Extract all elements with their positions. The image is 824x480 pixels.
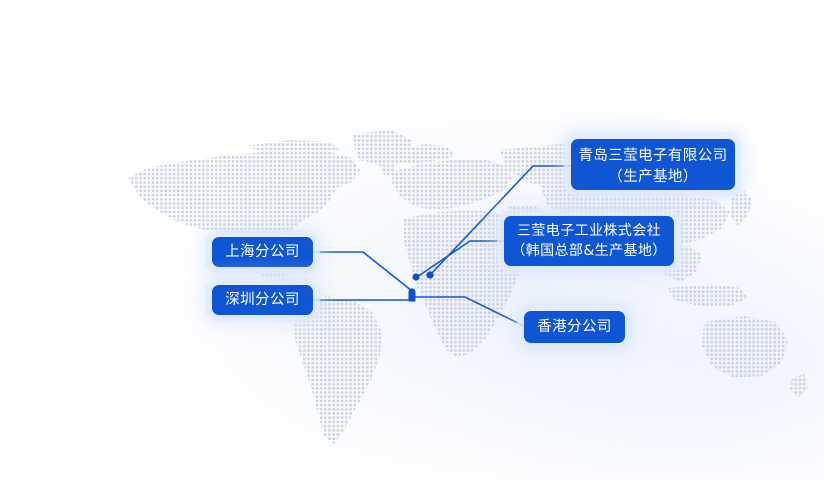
label-shanghai-line1: 上海分公司 (225, 244, 300, 260)
label-hongkong-line1: 香港分公司 (537, 319, 612, 335)
label-shenzhen-line1: 深圳分公司 (225, 292, 300, 308)
world-map-locations-graphic: 青岛三莹电子有限公司 （生产基地） 三莹电子工业株式会社 （韩国总部&生产基地）… (0, 0, 824, 480)
label-hongkong-branch[interactable]: 香港分公司 (524, 311, 625, 343)
label-qingdao-line1: 青岛三莹电子有限公司 (571, 146, 735, 167)
label-shanghai-branch[interactable]: 上海分公司 (212, 237, 313, 267)
map-svg (0, 0, 824, 480)
label-korea-line2: （韩国总部&生产基地） (504, 242, 674, 262)
label-qingdao[interactable]: 青岛三莹电子有限公司 （生产基地） (571, 139, 735, 190)
label-korea-line1: 三莹电子工业株式会社 (504, 222, 674, 242)
label-qingdao-line2: （生产基地） (571, 167, 735, 188)
label-korea-hq[interactable]: 三莹电子工业株式会社 （韩国总部&生产基地） (504, 216, 674, 266)
dotted-world-map (0, 0, 824, 480)
label-shenzhen-branch[interactable]: 深圳分公司 (212, 285, 313, 315)
